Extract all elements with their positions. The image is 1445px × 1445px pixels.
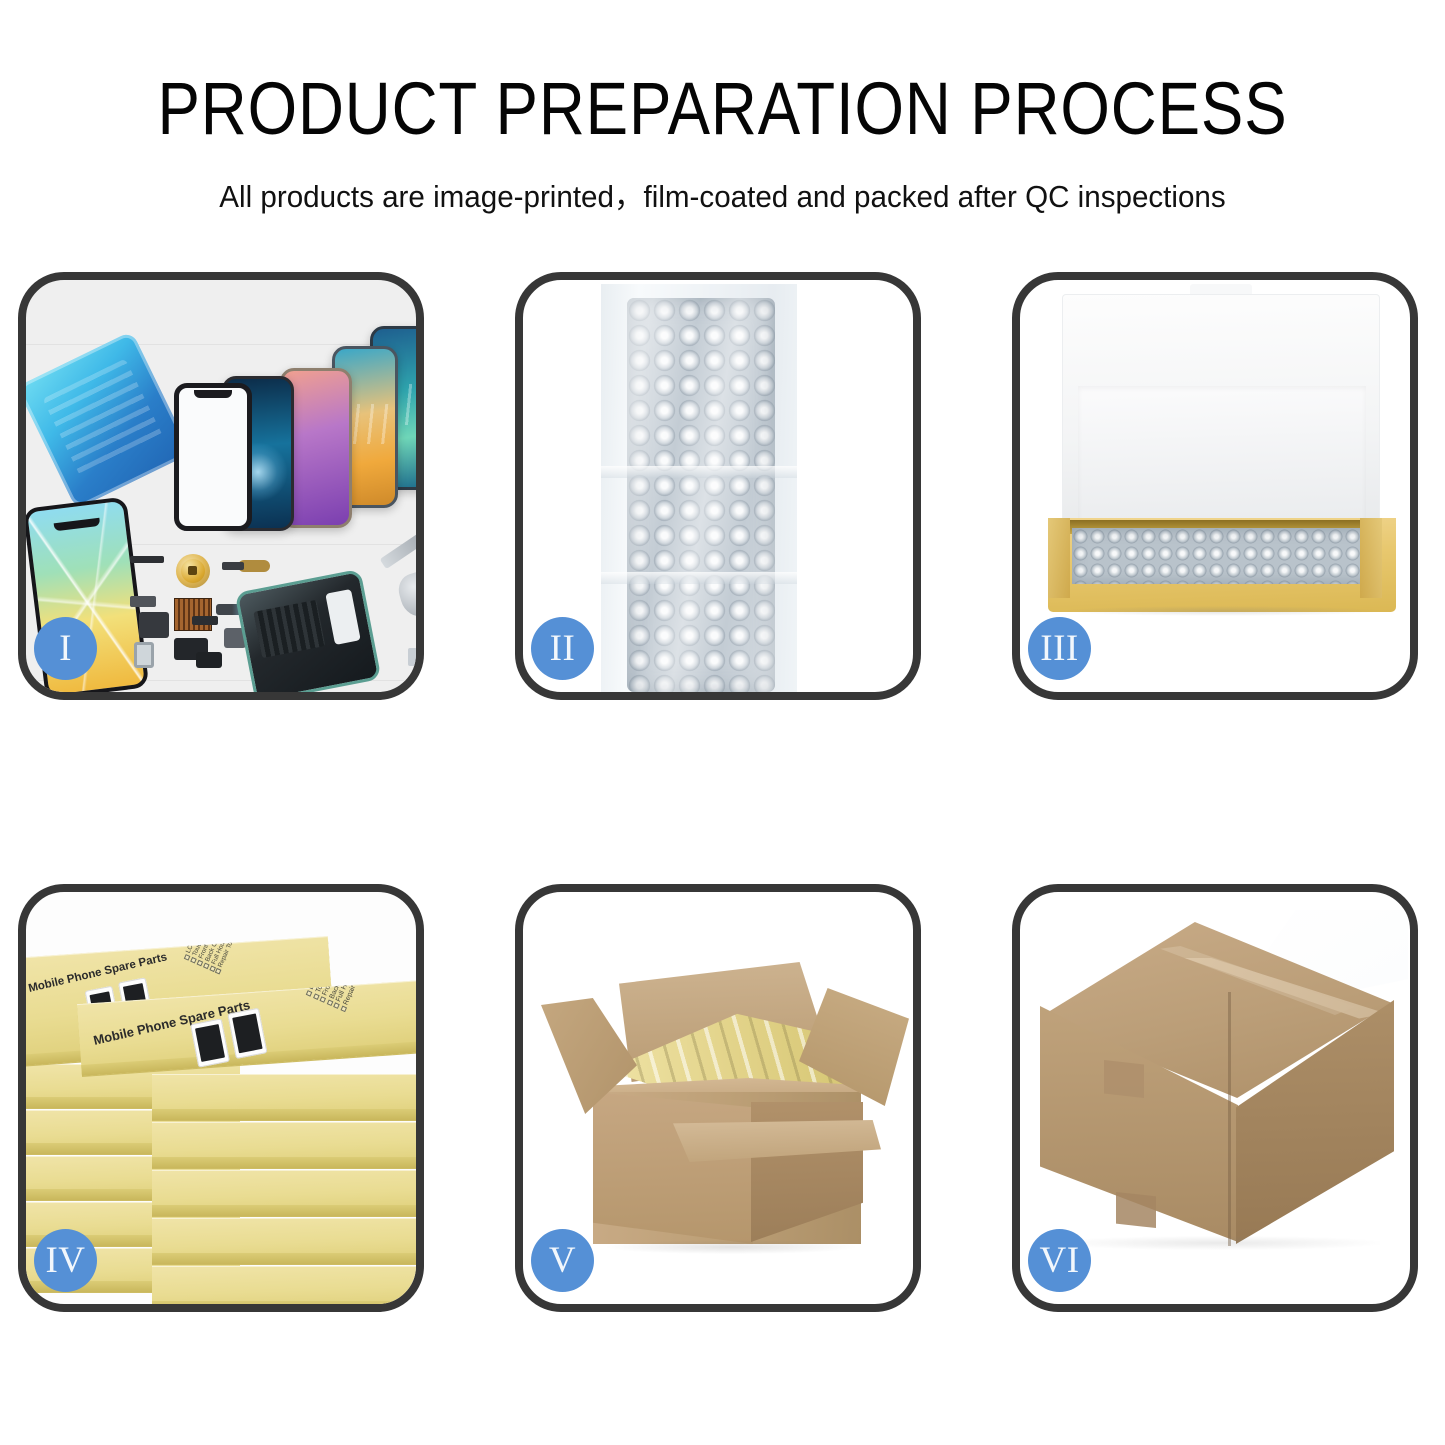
tape-tab-lower: [1116, 1192, 1156, 1228]
label-screen-thumb: [227, 1008, 267, 1059]
sim-tray-part: [134, 642, 154, 668]
step-numeral: V: [549, 1242, 576, 1279]
header: PRODUCT PREPARATION PROCESS All products…: [0, 0, 1445, 216]
adhesive-sheet-icon: [26, 331, 191, 509]
step-badge-5: V: [531, 1229, 594, 1292]
speaker-coil-part: [176, 554, 210, 588]
speaker-part: [196, 652, 222, 668]
bubble-wrap-inside-box: [1072, 528, 1374, 584]
camera-module-part: [139, 612, 169, 638]
flat-box-right-flap: [1360, 518, 1382, 598]
step-numeral: I: [59, 630, 72, 667]
process-step-card-4: Mobile Phone Spare Parts LCD Digitizer T…: [18, 884, 424, 1312]
step-numeral: VI: [1039, 1242, 1079, 1279]
retail-box: [152, 1266, 416, 1304]
carton-front-face: [593, 1092, 753, 1244]
process-step-card-2: II: [515, 272, 921, 700]
tool-handle: [395, 567, 416, 620]
step-badge-2: II: [531, 617, 594, 680]
bracket-part: [130, 596, 156, 607]
retail-box: [152, 1122, 416, 1168]
process-step-card-3: III: [1012, 272, 1418, 700]
box-shadow: [1064, 606, 1380, 616]
retail-box: [152, 1074, 416, 1120]
retail-box-label-title: Mobile Phone Spare Parts: [92, 997, 252, 1048]
tape-tab-upper: [1104, 1060, 1144, 1098]
page-subtitle: All products are image-printed，film-coat…: [22, 172, 1424, 216]
bubble-wrap-seam: [601, 572, 797, 584]
process-step-grid: I II: [18, 272, 1427, 1307]
carton-shadow: [1060, 1236, 1380, 1250]
carton-shadow: [607, 1240, 855, 1254]
chip-grid-part: [174, 598, 212, 631]
process-step-card-1: I: [18, 272, 424, 700]
retail-box: [152, 1218, 416, 1264]
phone-back-housing: [234, 569, 381, 692]
carton-corner-edge: [1228, 992, 1231, 1246]
bubble-wrap-sheen: [627, 298, 775, 692]
step-badge-6: VI: [1028, 1229, 1091, 1292]
page-title: PRODUCT PREPARATION PROCESS: [101, 72, 1344, 146]
box-lid-inner-panel: [1078, 386, 1366, 532]
button-flex-part: [192, 616, 218, 625]
retail-box-label-checklist: LCD Digitizer Touch Panel Front Glass Ba…: [183, 936, 239, 975]
step-numeral: II: [550, 630, 576, 667]
retail-box: [152, 1170, 416, 1216]
screwdriver-icon: [380, 527, 416, 569]
screw-part: [408, 648, 416, 666]
earpiece-part: [130, 556, 164, 563]
step-badge-4: IV: [34, 1229, 97, 1292]
tempered-glass-icon: [174, 383, 252, 531]
connector-part: [222, 562, 244, 570]
product-preparation-infographic: PRODUCT PREPARATION PROCESS All products…: [0, 0, 1445, 1445]
step-numeral: IV: [45, 1242, 85, 1279]
label-screen-thumb: [190, 1018, 230, 1067]
step-badge-1: I: [34, 617, 97, 680]
step-numeral: III: [1040, 630, 1078, 667]
process-step-card-6: VI: [1012, 884, 1418, 1312]
step-badge-3: III: [1028, 617, 1091, 680]
process-step-card-5: V: [515, 884, 921, 1312]
bubble-wrap-seam: [601, 466, 797, 478]
flat-box-left-flap: [1048, 518, 1070, 598]
